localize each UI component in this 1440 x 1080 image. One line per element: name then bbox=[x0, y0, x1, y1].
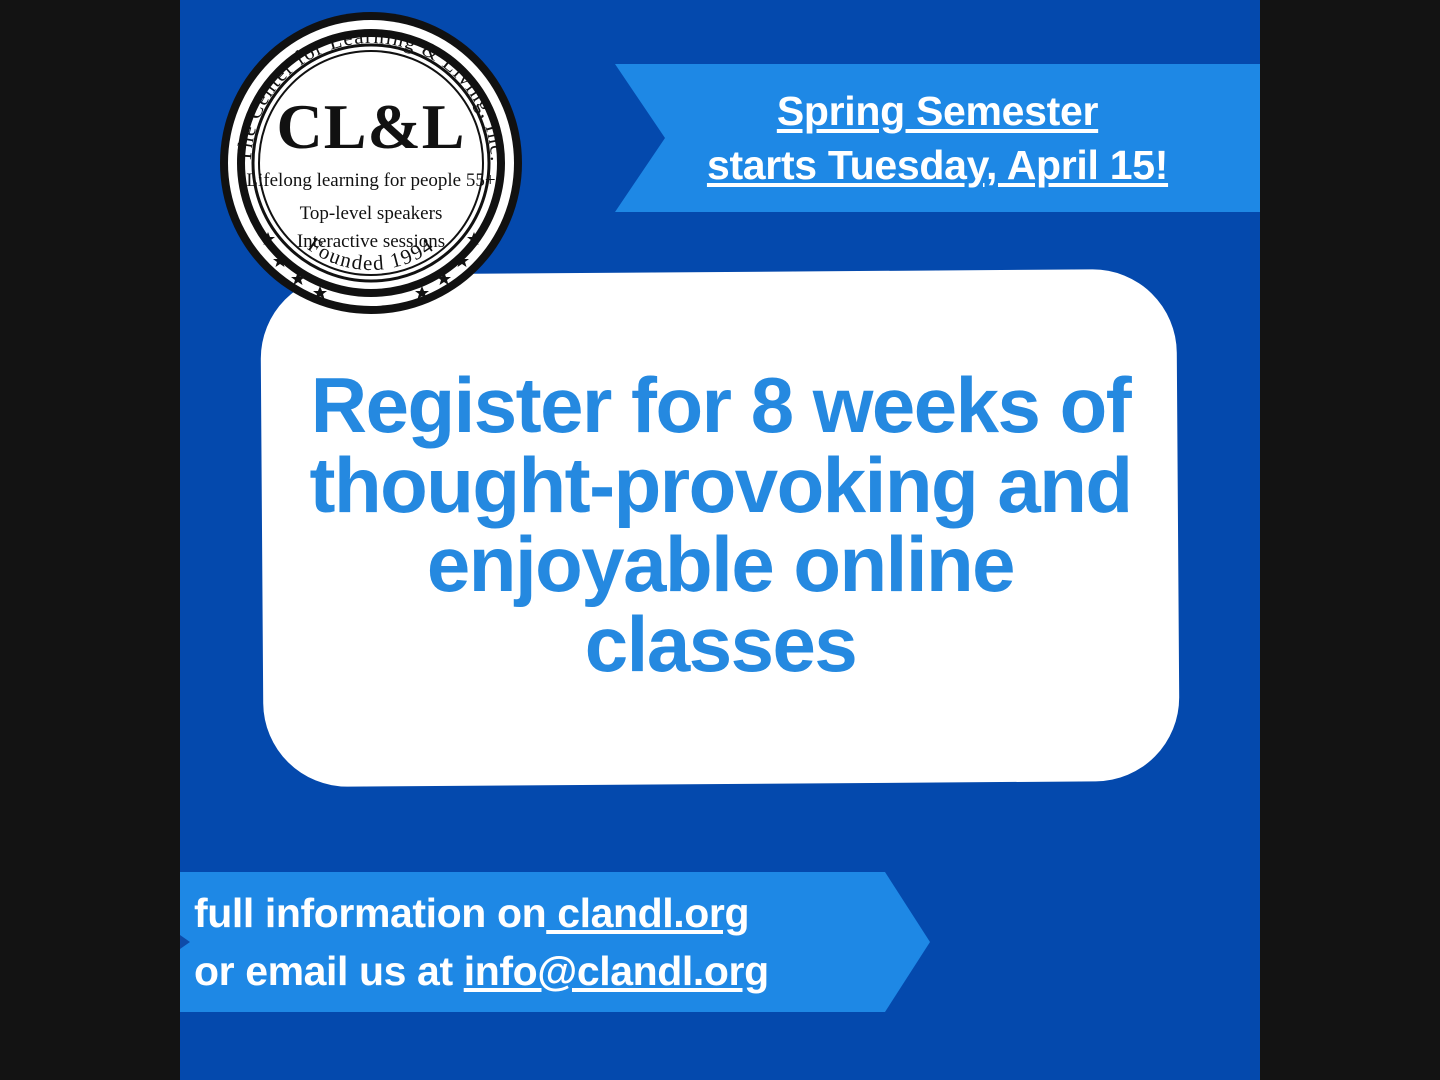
top-banner-line-2: starts Tuesday, April 15! bbox=[707, 138, 1168, 192]
poster-stage: The Center for Learning & Living, Inc. F… bbox=[0, 0, 1440, 1080]
bottom-banner-line-2-prefix: or email us at bbox=[194, 948, 464, 994]
top-banner-line-1: Spring Semester bbox=[777, 84, 1098, 138]
poster-canvas: The Center for Learning & Living, Inc. F… bbox=[180, 0, 1260, 1080]
logo-monogram: CL&L bbox=[277, 91, 466, 162]
email-link[interactable]: info@clandl.org bbox=[464, 948, 769, 994]
bottom-banner-line-1: full information on clandl.org bbox=[194, 884, 749, 942]
website-link[interactable]: clandl.org bbox=[546, 890, 749, 936]
headline-text: Register for 8 weeks of thought-provokin… bbox=[303, 366, 1138, 690]
cl-and-l-logo: The Center for Learning & Living, Inc. F… bbox=[216, 8, 526, 318]
logo-tagline: Lifelong learning for people 55+ bbox=[246, 170, 495, 191]
headline-card: Register for 8 weeks of thought-provokin… bbox=[260, 269, 1180, 787]
bottom-banner-line-1-prefix: full information on bbox=[194, 890, 546, 936]
logo-feature-2: Interactive sessions bbox=[297, 231, 445, 252]
bottom-banner-line-2: or email us at info@clandl.org bbox=[194, 942, 769, 1000]
top-banner: Spring Semester starts Tuesday, April 15… bbox=[615, 64, 1260, 212]
logo-feature-1: Top-level speakers bbox=[300, 203, 443, 224]
bottom-banner: full information on clandl.org or email … bbox=[180, 872, 930, 1012]
